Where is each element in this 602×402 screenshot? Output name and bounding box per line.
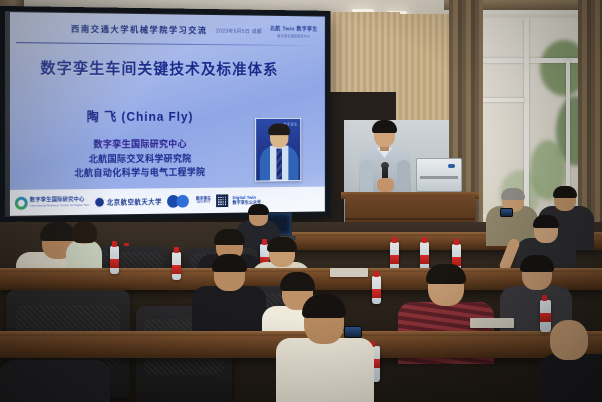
person-hair (214, 229, 245, 245)
portrait-hair (268, 124, 290, 136)
logo-research-center: 数字孪生国际研究中心 International Research Center… (15, 195, 89, 209)
podium-edge (345, 218, 475, 220)
slide-header-date: 2023年5月5日 成都 (216, 28, 262, 35)
person-body (0, 360, 110, 402)
projection-screen: 西南交通大学机械学院学习交流 2023年5月5日 成都 北航 Twin 数字孪生… (0, 6, 330, 222)
air-conditioner-indicator (448, 164, 455, 168)
person-hair (72, 221, 97, 243)
slide-title: 数字孪生车间关键技术及标准体系 (10, 56, 307, 79)
audience-person (540, 320, 602, 402)
wood-slat-wall-upper (330, 12, 400, 92)
slide-header: 西南交通大学机械学院学习交流 2023年5月5日 成都 北航 Twin 数字孪生… (10, 12, 325, 45)
audience-person (66, 224, 102, 264)
slide-header-logo-sub: 数字孪生国际研究中心 (270, 33, 318, 38)
air-conditioner-vent (420, 176, 458, 179)
audience-person (192, 258, 266, 330)
person-body (540, 354, 602, 402)
logo1-en: International Research Center for Digita… (30, 203, 90, 207)
audience-person (276, 300, 374, 402)
affiliation-line: 北航自动化科学与电气工程学院 (10, 165, 266, 181)
logo-journal: 数字孪生 国际期刊 (196, 196, 211, 204)
person-hair (520, 255, 554, 272)
presenter-hair (372, 120, 397, 133)
presentation-slide: 西南交通大学机械学院学习交流 2023年5月5日 成都 北航 Twin 数字孪生… (10, 12, 325, 216)
logo2-cn: 北京航空航天大学 (107, 196, 162, 206)
journal-line2: 国际期刊 (196, 201, 211, 205)
person-hair (267, 237, 297, 252)
person-hair (553, 186, 577, 198)
slide-header-title: 西南交通大学机械学院学习交流 (71, 23, 208, 36)
qr-code-icon (216, 194, 228, 207)
portrait-tie (276, 149, 282, 180)
buaa-seal-icon (94, 196, 105, 207)
affiliation-line: 数字孪生国际研究中心 (10, 137, 266, 152)
conference-room-scene: 西南交通大学机械学院学习交流 2023年5月5日 成都 北航 Twin 数字孪生… (0, 0, 602, 402)
research-center-icon (15, 196, 28, 209)
person-hair (248, 204, 269, 215)
person-hair (280, 272, 315, 291)
person-body (66, 240, 102, 268)
presenter-hands (377, 178, 394, 192)
water-bottle (420, 242, 429, 270)
person-hair (212, 254, 247, 272)
slide-header-logo-main: 北航 Twin 数字孪生 (270, 24, 318, 32)
paper-sheet (330, 268, 368, 277)
slide-header-logo: 北航 Twin 数字孪生 数字孪生国际研究中心 (270, 24, 318, 38)
person-hair (426, 264, 466, 284)
person-hair (533, 215, 559, 228)
paper-sheet (470, 318, 514, 328)
air-conditioner-unit (416, 158, 462, 192)
person-head (550, 320, 588, 360)
slide-speaker-name: 陶 飞 (China Fly) (10, 106, 266, 125)
digital-twin-logo-icon (167, 194, 192, 207)
logo-buaa: 北京航空航天大学 (94, 196, 162, 208)
person-body (192, 286, 266, 334)
person-hair (501, 188, 525, 200)
audience-person (0, 344, 110, 402)
water-bottle (110, 246, 119, 274)
slide-affiliations: 数字孪生国际研究中心 北航国际交叉科学研究院 北航自动化科学与电气工程学院 (10, 137, 266, 182)
water-bottle (172, 252, 181, 280)
person-body (276, 338, 374, 402)
water-bottle (390, 242, 399, 270)
smartphone-icon (500, 208, 513, 217)
speaker-portrait-photo: 数字孪生 (255, 118, 301, 182)
